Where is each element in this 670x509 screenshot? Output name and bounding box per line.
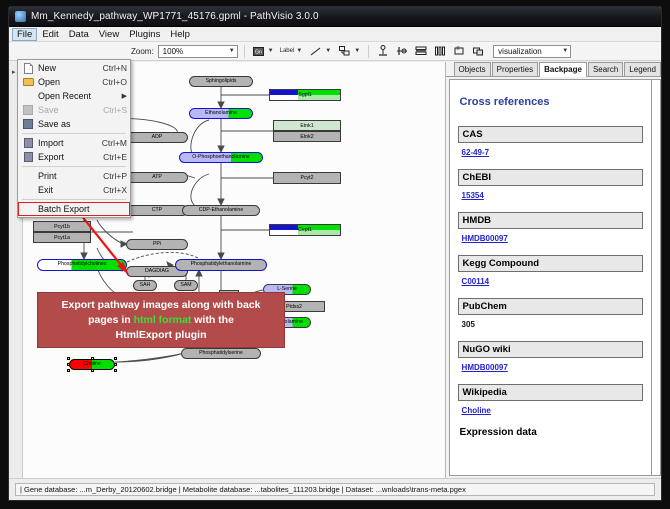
file-menu-item-label: New <box>38 63 97 73</box>
xref-header-hmdb: HMDB <box>458 212 643 229</box>
xref-link[interactable]: HMDB00097 <box>462 234 508 243</box>
chevron-down-icon[interactable]: ▼ <box>266 48 276 54</box>
tab-objects[interactable]: Objects <box>454 62 491 76</box>
toolbar-separator <box>368 45 369 58</box>
save-as-icon <box>21 119 35 130</box>
side-panel: Objects Properties Backpage Search Legen… <box>446 62 661 478</box>
xref-value-kegg-compound[interactable]: C00114 <box>462 277 643 286</box>
file-menu-item-accelerator: Ctrl+M <box>96 138 127 148</box>
cross-references-list: CAS62-49-7ChEBI15354HMDBHMDB00097Kegg Co… <box>458 126 643 415</box>
distribute-button[interactable] <box>432 44 447 59</box>
pathway-gene-label: Ptdss2 <box>286 304 302 310</box>
xref-value-hmdb[interactable]: HMDB00097 <box>462 234 643 243</box>
pathvisio-window: Mm_Kennedy_pathway_WP1771_45176.gpml - P… <box>8 6 662 501</box>
menu-separator <box>22 133 126 134</box>
zoom-value: 100% <box>163 47 183 56</box>
file-menu-item-label: Save <box>38 105 97 115</box>
pathway-gene-label: Pcyt2 <box>301 175 314 181</box>
chevron-down-icon[interactable]: ▼ <box>294 48 304 54</box>
pathway-node-label: ATP <box>152 175 162 180</box>
xref-value-nugo-wiki[interactable]: HMDB00097 <box>462 363 643 372</box>
xref-value-wikipedia[interactable]: Choline <box>462 406 643 415</box>
file-menu-item-accelerator: Ctrl+X <box>97 185 127 195</box>
annotation-line2-post: with the <box>191 314 234 326</box>
tab-search[interactable]: Search <box>588 62 623 76</box>
menu-edit[interactable]: Edit <box>37 28 63 41</box>
file-menu-item-label: Export <box>38 152 97 162</box>
file-menu-item-open-recent[interactable]: Open Recent▶ <box>18 89 130 103</box>
menu-view[interactable]: View <box>94 28 124 41</box>
chevron-down-icon: ▼ <box>562 48 568 54</box>
pathway-gene-label: Sgpl1 <box>298 92 311 98</box>
pathway-gene-cept1[interactable]: Cept1 <box>269 224 341 236</box>
group-button[interactable] <box>451 44 466 59</box>
status-bar: | Gene database: ...m_Derby_20120602.bri… <box>9 478 661 500</box>
submenu-arrow-icon: ▶ <box>122 92 127 100</box>
side-panel-tabs: Objects Properties Backpage Search Legen… <box>446 62 661 77</box>
line-tool[interactable]: ▼ <box>308 44 333 59</box>
pathway-node-label: Sphingolipids <box>206 79 237 84</box>
order-button[interactable] <box>470 44 485 59</box>
pathway-gene-label: Cept1 <box>298 227 312 233</box>
none <box>21 204 35 215</box>
xref-header-pubchem: PubChem <box>458 298 643 315</box>
file-menu-item-accelerator: Ctrl+E <box>97 152 127 162</box>
backpage-content: Cross references CAS62-49-7ChEBI15354HMD… <box>449 79 652 476</box>
pathway-node-adp[interactable]: ADP <box>126 132 188 143</box>
xref-link[interactable]: 15354 <box>462 191 484 200</box>
menu-separator <box>22 199 126 200</box>
import-icon <box>21 138 35 149</box>
file-menu-item-accelerator: Ctrl+S <box>97 105 127 115</box>
menu-file[interactable]: File <box>12 28 37 41</box>
datanode-tool[interactable]: Gn ▼ <box>251 44 276 59</box>
visualization-value: visualization <box>498 47 542 56</box>
tab-legend[interactable]: Legend <box>624 62 661 76</box>
file-menu-item-import[interactable]: ImportCtrl+M <box>18 136 130 150</box>
pathvisio-icon <box>15 11 26 22</box>
label-tool-label: Label <box>280 48 295 54</box>
pathway-gene-label: Etnk2 <box>300 134 313 140</box>
file-menu-item-accelerator: Ctrl+P <box>97 171 127 181</box>
xref-value-chebi[interactable]: 15354 <box>462 191 643 200</box>
file-menu-item-label: Save as <box>38 119 121 129</box>
screenshot-frame: Mm_Kennedy_pathway_WP1771_45176.gpml - P… <box>0 0 670 509</box>
zoom-label: Zoom: <box>131 47 154 56</box>
align-top-button[interactable] <box>375 44 390 59</box>
menu-data[interactable]: Data <box>64 28 94 41</box>
chevron-down-icon[interactable]: ▼ <box>352 48 362 54</box>
pathway-node-label: Choline <box>83 362 101 367</box>
file-menu-item-save-as[interactable]: Save as <box>18 117 130 131</box>
pathway-gene-etnk2[interactable]: Etnk2 <box>273 131 341 142</box>
status-text: | Gene database: ...m_Derby_20120602.bri… <box>15 483 655 496</box>
pathway-node-ethanolamine-top[interactable]: Ethanolamine <box>189 108 253 119</box>
file-menu-item-save: SaveCtrl+S <box>18 103 130 117</box>
pathway-node-sphingolipids[interactable]: Sphingolipids <box>189 76 253 87</box>
xref-header-kegg-compound: Kegg Compound <box>458 255 643 272</box>
file-menu-item-exit[interactable]: ExitCtrl+X <box>18 183 130 197</box>
file-menu-dropdown: NewCtrl+NOpenCtrl+OOpen Recent▶SaveCtrl+… <box>17 59 131 218</box>
backpage-scrollbar[interactable] <box>652 79 661 476</box>
new-document-icon <box>21 63 35 74</box>
zoom-combobox[interactable]: 100% ▼ <box>158 45 238 58</box>
xref-header-nugo-wiki: NuGO wiki <box>458 341 643 358</box>
pathway-gene-label: Etnk1 <box>300 123 313 129</box>
file-menu-item-new[interactable]: NewCtrl+N <box>18 61 130 75</box>
file-menu-item-label: Print <box>38 171 97 181</box>
toolbar-separator <box>244 45 245 58</box>
file-menu-item-accelerator: Ctrl+N <box>97 63 127 73</box>
xref-header-chebi: ChEBI <box>458 169 643 186</box>
file-menu-item-batch-export[interactable]: Batch Export <box>18 202 130 216</box>
pathway-gene-sgpl1[interactable]: Sgpl1 <box>269 89 341 101</box>
none <box>21 91 35 102</box>
file-menu-item-open[interactable]: OpenCtrl+O <box>18 75 130 89</box>
none <box>21 185 35 196</box>
chevron-down-icon[interactable]: ▼ <box>323 48 333 54</box>
file-menu-item-label: Open Recent <box>38 91 122 101</box>
shape-icon[interactable] <box>337 44 352 59</box>
menu-help[interactable]: Help <box>165 28 195 41</box>
chevron-down-icon: ▼ <box>229 48 235 54</box>
file-menu-item-print[interactable]: PrintCtrl+P <box>18 169 130 183</box>
selection-handle[interactable] <box>67 369 70 372</box>
expression-data-heading: Expression data <box>460 427 643 438</box>
menu-bar: File Edit Data View Plugins Help <box>9 27 661 42</box>
file-menu-item-label: Exit <box>38 185 97 195</box>
xref-header-wikipedia: Wikipedia <box>458 384 643 401</box>
svg-text:Gn: Gn <box>255 49 262 55</box>
selection-handle[interactable] <box>67 363 70 366</box>
file-menu-item-export[interactable]: ExportCtrl+E <box>18 150 130 164</box>
open-folder-icon <box>21 77 35 88</box>
annotation-callout: Export pathway images along with back pa… <box>37 292 285 348</box>
cross-references-heading: Cross references <box>460 96 643 108</box>
align-center-button[interactable] <box>394 44 409 59</box>
pathway-gene-etnk1[interactable]: Etnk1 <box>273 120 341 131</box>
tab-properties[interactable]: Properties <box>492 62 538 76</box>
xref-link[interactable]: Choline <box>462 406 491 415</box>
file-menu-item-accelerator: Ctrl+O <box>96 77 127 87</box>
tab-backpage[interactable]: Backpage <box>539 62 587 77</box>
line-icon[interactable] <box>308 44 323 59</box>
pathway-node-label: O-Phosphoethanolamine <box>192 155 249 160</box>
visualization-combobox[interactable]: visualization ▼ <box>493 45 571 58</box>
export-icon <box>21 152 35 163</box>
pathway-node-o-phosphoethanolamine[interactable]: O-Phosphoethanolamine <box>179 152 263 163</box>
xref-header-cas: CAS <box>458 126 643 143</box>
menu-plugins[interactable]: Plugins <box>124 28 165 41</box>
selection-handle[interactable] <box>91 369 94 372</box>
xref-link[interactable]: HMDB00097 <box>462 363 508 372</box>
label-tool[interactable]: Label ▼ <box>280 48 305 54</box>
annotation-line2-pre: pages in <box>88 314 134 326</box>
stack-button[interactable] <box>413 44 428 59</box>
file-menu-item-label: Import <box>38 138 96 148</box>
xref-value-cas[interactable]: 62-49-7 <box>462 148 643 157</box>
save-icon-disabled <box>21 105 35 116</box>
window-title: Mm_Kennedy_pathway_WP1771_45176.gpml - P… <box>31 11 319 22</box>
file-menu-item-label: Open <box>38 77 96 87</box>
xref-value-pubchem: 305 <box>462 320 643 329</box>
xref-link[interactable]: 62-49-7 <box>462 148 490 157</box>
title-bar: Mm_Kennedy_pathway_WP1771_45176.gpml - P… <box>9 7 661 27</box>
annotation-line3: HtmlExport plugin <box>116 329 207 341</box>
shape-tool[interactable]: ▼ <box>337 44 362 59</box>
geneproduct-icon[interactable]: Gn <box>251 44 266 59</box>
annotation-line1: Export pathway images along with back <box>62 299 261 311</box>
pathway-gene-pcyt2[interactable]: Pcyt2 <box>273 172 341 184</box>
selection-handle[interactable] <box>114 369 117 372</box>
pathway-node-label: Ethanolamine <box>205 111 237 116</box>
xref-link[interactable]: C00114 <box>462 277 490 286</box>
pathway-node-label: ADP <box>152 135 163 140</box>
menu-separator <box>22 166 126 167</box>
selection-handle[interactable] <box>114 363 117 366</box>
file-menu-item-label: Batch Export <box>38 204 121 214</box>
annotation-highlight: html format <box>134 314 192 326</box>
none <box>21 171 35 182</box>
